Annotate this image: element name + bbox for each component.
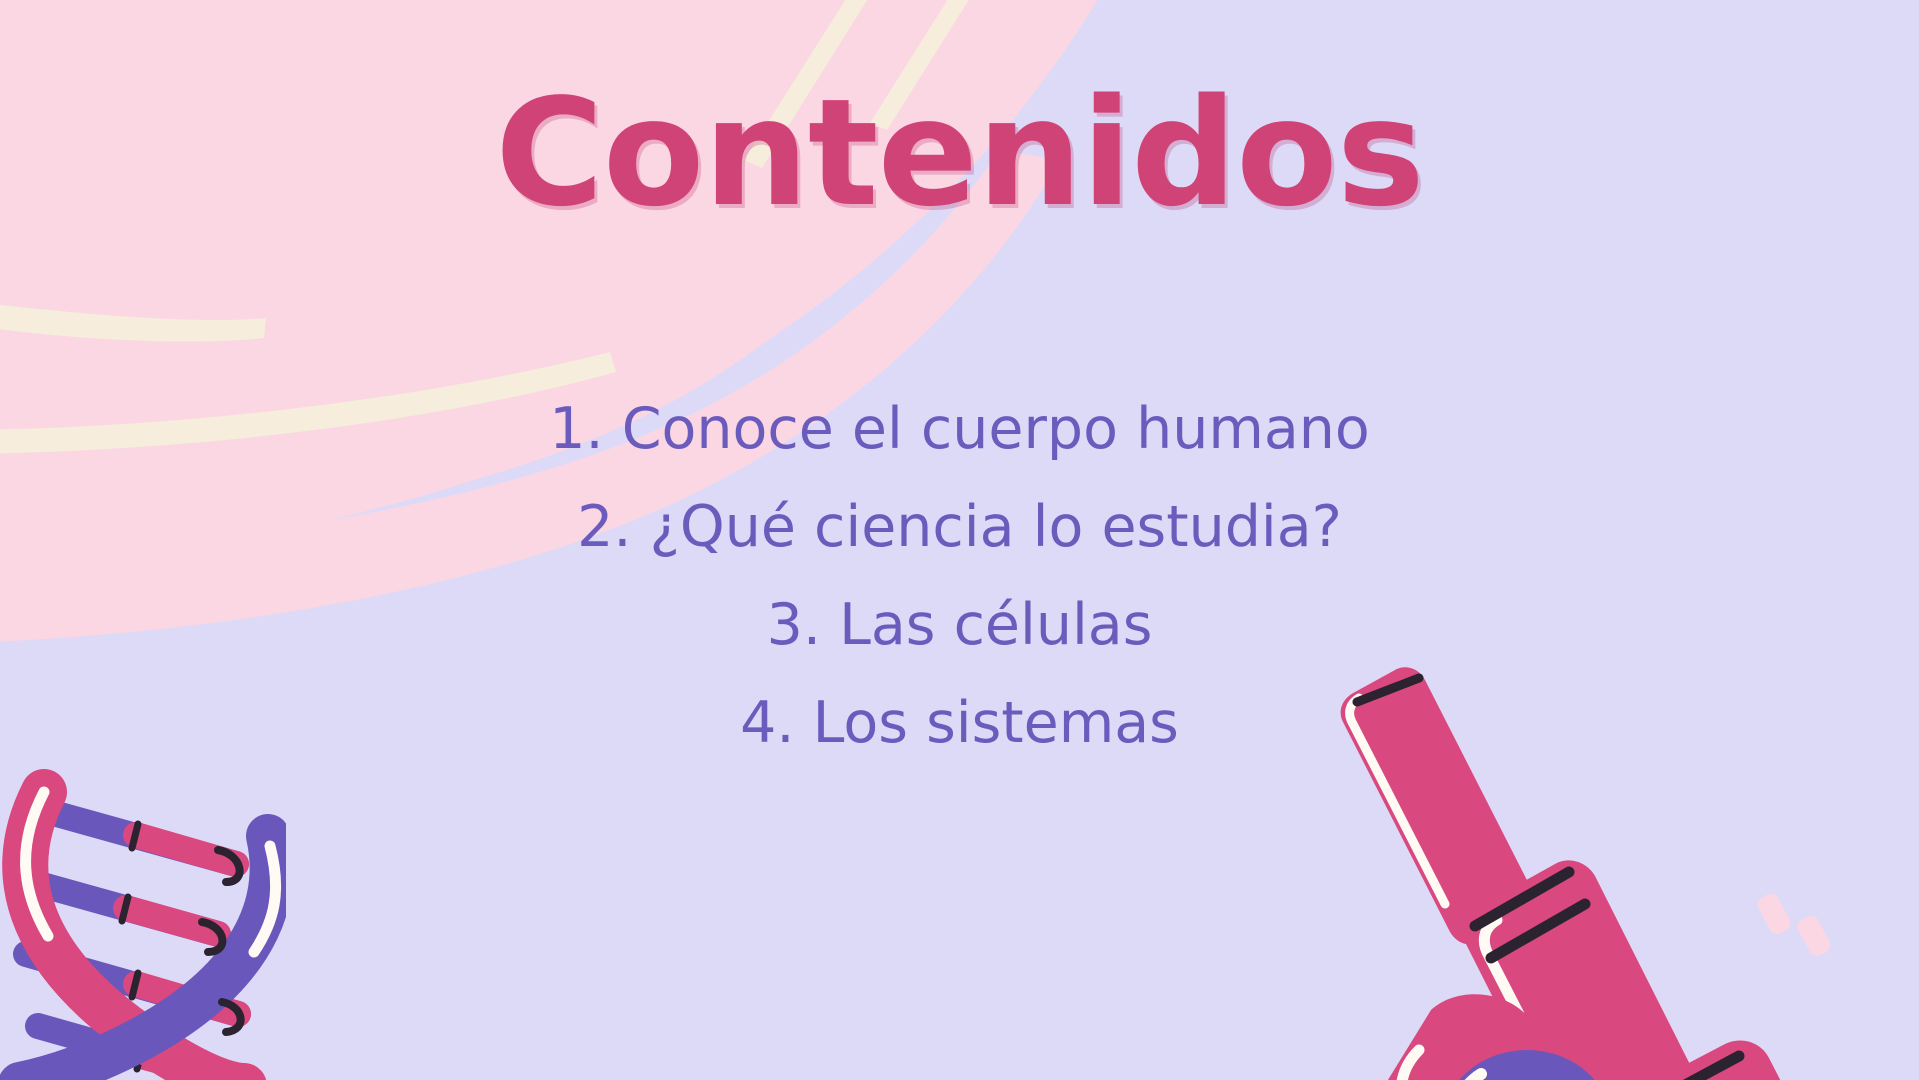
microscope-stage-tabs <box>1755 891 1833 959</box>
list-item: 2. ¿Qué ciencia lo estudia? <box>0 478 1919 576</box>
contents-list: 1. Conoce el cuerpo humano 2. ¿Qué cienc… <box>0 380 1919 772</box>
slide-canvas: Contenidos 1. Conoce el cuerpo humano 2.… <box>0 0 1919 1080</box>
list-item: 4. Los sistemas <box>0 674 1919 772</box>
list-item: 3. Las células <box>0 576 1919 674</box>
list-item: 1. Conoce el cuerpo humano <box>0 380 1919 478</box>
page-title: Contenidos <box>495 78 1424 229</box>
title-container: Contenidos <box>0 78 1919 229</box>
